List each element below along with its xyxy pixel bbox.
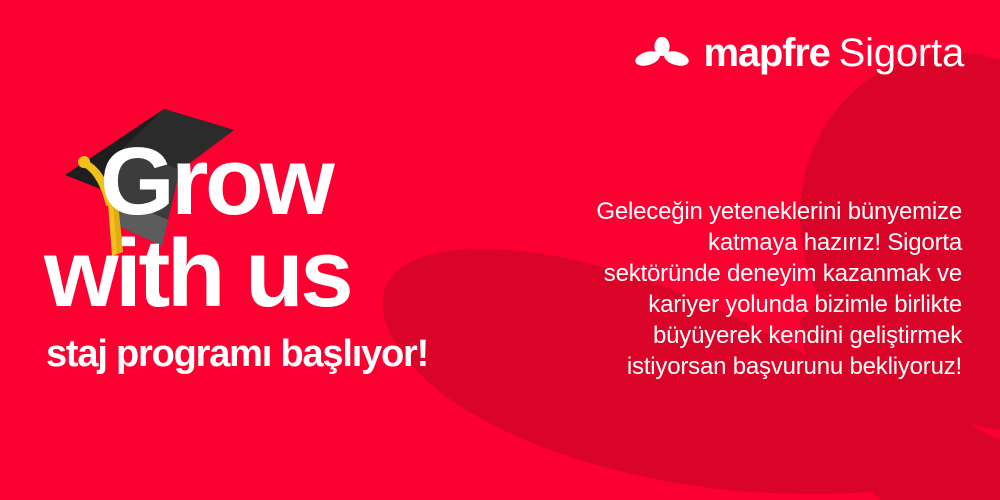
headline-block: Grow with us staj programı başlıyor! [44, 138, 428, 373]
copy-line: katmaya hazırız! Sigorta [562, 227, 962, 258]
headline-line-1: Grow [100, 138, 428, 226]
copy-line: büyüyerek kendini geliştirmek [562, 320, 962, 351]
copy-line: sektöründe deneyim kazanmak ve [562, 258, 962, 289]
logo-wordmark: mapfreSigorta [703, 33, 964, 73]
mapfre-petal-mark-icon [635, 36, 689, 70]
subheadline: staj programı başlıyor! [46, 335, 428, 373]
logo-brand-text: mapfre [703, 31, 829, 75]
copy-line: istiyorsan başvurunu bekliyoruz! [562, 351, 962, 382]
headline-line-2: with us [44, 230, 428, 318]
promo-banner: mapfreSigorta Grow with us staj programı… [0, 0, 1000, 500]
copy-line: kariyer yolunda bizimle birlikte [562, 289, 962, 320]
mapfre-logo-lockup[interactable]: mapfreSigorta [635, 33, 964, 73]
body-copy-block: Geleceğin yeteneklerini bünyemize katmay… [562, 196, 962, 382]
copy-line: Geleceğin yeteneklerini bünyemize [562, 196, 962, 227]
logo-product-text: Sigorta [839, 31, 964, 75]
